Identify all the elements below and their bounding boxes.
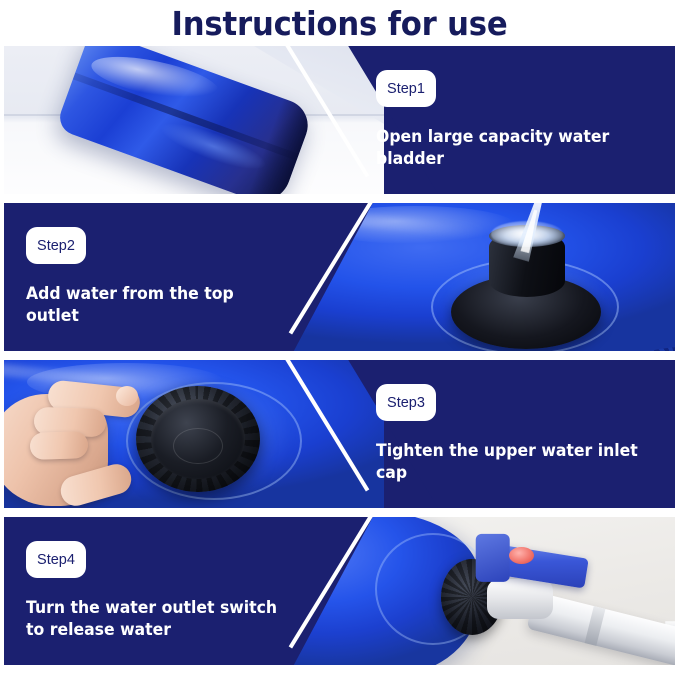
valve-indicator-dot-icon <box>509 547 534 564</box>
fingernail-icon <box>116 386 138 406</box>
step-text-1: Open large capacity water bladder <box>376 126 653 170</box>
step-text-3: Tighten the upper water inlet cap <box>376 440 653 484</box>
step-copy-1: Step1 Open large capacity water bladder <box>376 46 668 194</box>
step-panel-1: Step1 Open large capacity water bladder <box>4 46 675 194</box>
valve-body-shape <box>487 579 553 619</box>
step-copy-2: Step2 Add water from the top outlet <box>26 203 306 351</box>
tightening-cap-photo <box>4 360 384 508</box>
hand-shape <box>4 378 200 508</box>
steps-list: Step1 Open large capacity water bladder … <box>0 46 679 674</box>
step-badge-2: Step2 <box>26 227 86 264</box>
step-panel-4: Step4 Turn the water outlet switch to re… <box>4 517 675 665</box>
step-copy-4: Step4 Turn the water outlet switch to re… <box>26 517 306 665</box>
step-badge-4: Step4 <box>26 541 86 578</box>
page-title: Instructions for use <box>24 0 655 46</box>
step-badge-3: Step3 <box>376 384 436 421</box>
lever-stub-shape <box>476 534 510 582</box>
step-panel-2: Step2 Add water from the top outlet <box>4 203 675 351</box>
step-text-2: Add water from the top outlet <box>26 283 292 327</box>
folded-water-bladder-photo <box>4 46 384 194</box>
gloss-highlight-icon <box>88 48 222 108</box>
step-copy-3: Step3 Tighten the upper water inlet cap <box>376 360 668 508</box>
step-badge-1: Step1 <box>376 70 436 107</box>
finger-shape <box>30 431 89 460</box>
step-panel-3: Step3 Tighten the upper water inlet cap <box>4 360 675 508</box>
folded-bladder-shape <box>55 46 315 194</box>
pipe-coupling-band <box>585 606 606 646</box>
step-text-4: Turn the water outlet switch to release … <box>26 597 292 641</box>
